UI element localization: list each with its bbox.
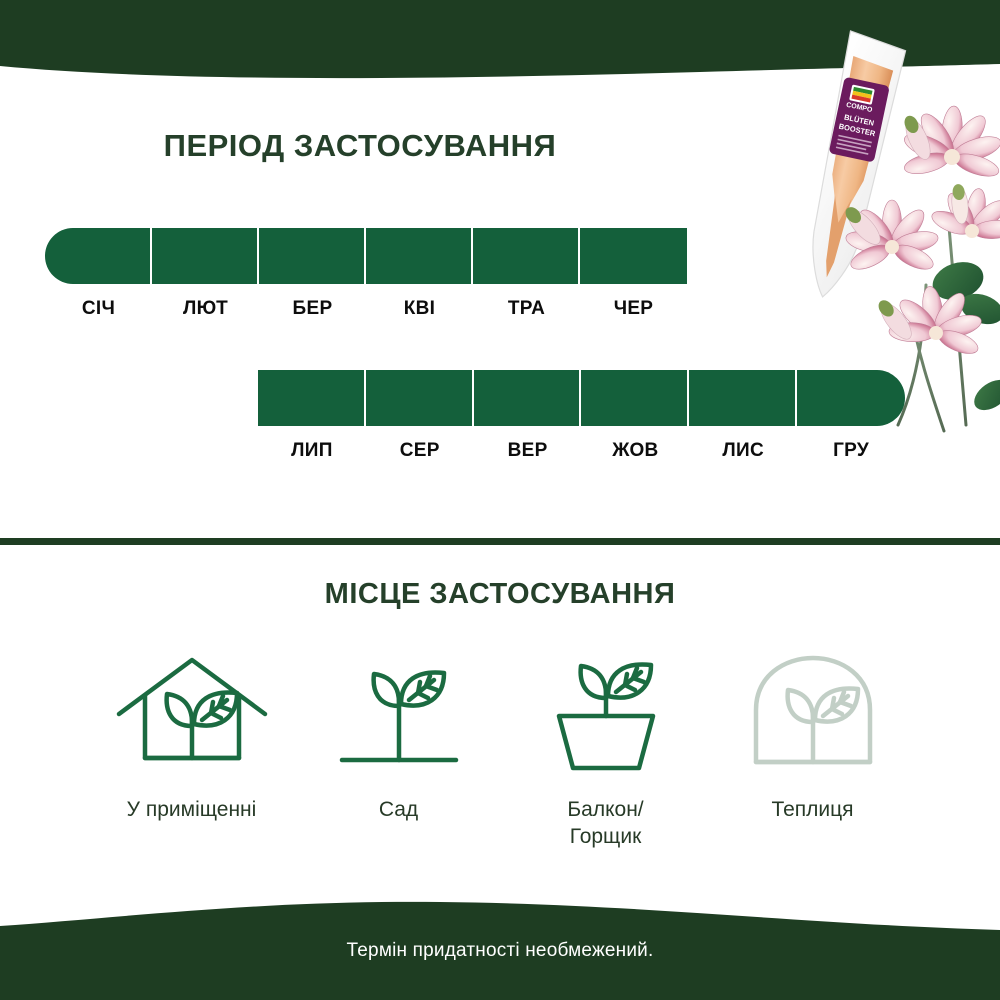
infographic-page: ПЕРІОД ЗАСТОСУВАННЯ СІЧЛЮТБЕРКВІТРАЧЕР Л… bbox=[0, 0, 1000, 1000]
place-item-indoor[interactable]: У приміщенні bbox=[88, 645, 295, 823]
place-item-garden[interactable]: Сад bbox=[295, 645, 502, 823]
month-cell bbox=[473, 228, 580, 284]
month-label: ЛИП bbox=[258, 440, 366, 462]
flower-bouquet-image bbox=[840, 95, 1000, 435]
place-item-balcony-pot[interactable]: Балкон/ Горщик bbox=[502, 645, 709, 851]
month-label: КВІ bbox=[366, 298, 473, 320]
month-cell bbox=[474, 370, 582, 426]
month-label: СІЧ bbox=[45, 298, 152, 320]
place-label: Балкон/ Горщик bbox=[567, 796, 643, 851]
place-title: МІСЦЕ ЗАСТОСУВАННЯ bbox=[0, 578, 1000, 611]
month-cell bbox=[689, 370, 797, 426]
month-label: ЛИС bbox=[689, 440, 797, 462]
month-bar-first-half bbox=[45, 228, 687, 284]
seedling-icon bbox=[314, 645, 484, 780]
month-cell bbox=[45, 228, 152, 284]
month-label: ТРА bbox=[473, 298, 580, 320]
section-divider bbox=[0, 538, 1000, 545]
month-label: ЖОВ bbox=[581, 440, 689, 462]
place-label: Теплиця bbox=[771, 796, 853, 823]
month-cell bbox=[259, 228, 366, 284]
place-label: Сад bbox=[379, 796, 418, 823]
potted-plant-icon bbox=[521, 645, 691, 780]
place-item-greenhouse[interactable]: Теплиця bbox=[709, 645, 916, 823]
month-cell bbox=[580, 228, 687, 284]
month-label: БЕР bbox=[259, 298, 366, 320]
month-cell bbox=[581, 370, 689, 426]
month-cell bbox=[258, 370, 366, 426]
greenhouse-icon bbox=[728, 645, 898, 780]
month-label: ЧЕР bbox=[580, 298, 687, 320]
place-label: У приміщенні bbox=[127, 796, 257, 823]
month-labels-second-half: ЛИПСЕРВЕРЖОВЛИСГРУ bbox=[258, 440, 905, 462]
place-icon-row: У приміщенні bbox=[88, 645, 918, 875]
footer-note: Термін придатності необмежений. bbox=[0, 940, 1000, 962]
month-label: ГРУ bbox=[797, 440, 905, 462]
month-cell bbox=[366, 228, 473, 284]
month-label: ВЕР bbox=[474, 440, 582, 462]
month-cell bbox=[366, 370, 474, 426]
house-plant-icon bbox=[107, 645, 277, 780]
month-bar-second-half bbox=[258, 370, 905, 426]
month-label: ЛЮТ bbox=[152, 298, 259, 320]
month-labels-first-half: СІЧЛЮТБЕРКВІТРАЧЕР bbox=[45, 298, 687, 320]
month-cell bbox=[152, 228, 259, 284]
period-title: ПЕРІОД ЗАСТОСУВАННЯ bbox=[0, 128, 720, 164]
month-label: СЕР bbox=[366, 440, 474, 462]
